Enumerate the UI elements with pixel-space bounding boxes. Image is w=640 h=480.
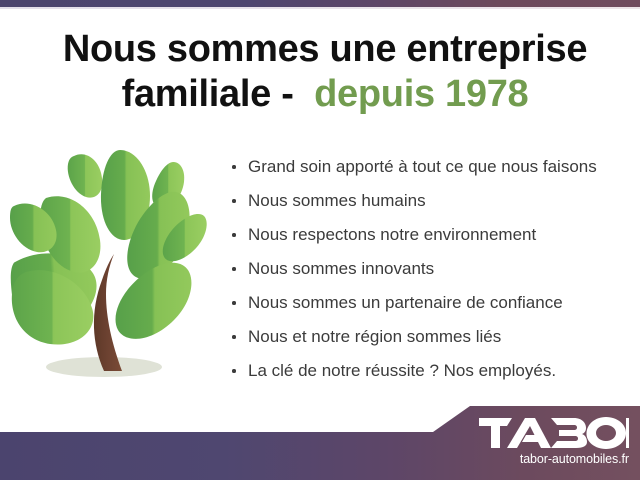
list-item-label: La clé de notre réussite ? Nos employés.	[248, 361, 556, 380]
slide-canvas: Nous sommes une entreprise familiale - d…	[0, 0, 640, 480]
brand-logo[interactable]: tabor-automobiles.fr	[479, 415, 629, 473]
brand-website: tabor-automobiles.fr	[479, 451, 629, 467]
list-item-label: Nous et notre région sommes liés	[248, 327, 501, 346]
value-list: Grand soin apporté à tout ce que nous fa…	[231, 150, 631, 388]
bullet-dot-icon	[232, 199, 236, 203]
list-item: Nous et notre région sommes liés	[231, 320, 631, 354]
list-item: Grand soin apporté à tout ce que nous fa…	[231, 150, 631, 184]
bullet-dot-icon	[232, 267, 236, 271]
tree-illustration	[8, 148, 208, 393]
bullet-dot-icon	[232, 335, 236, 339]
tabor-wordmark-icon	[479, 415, 629, 451]
top-accent-bar	[0, 0, 640, 7]
top-hairline	[0, 7, 640, 9]
list-item-label: Nous sommes humains	[248, 191, 426, 210]
tree-icon	[8, 148, 208, 393]
bullet-dot-icon	[232, 165, 236, 169]
tree-leaves	[9, 150, 207, 345]
list-item: Nous sommes innovants	[231, 252, 631, 286]
headline-line-1: Nous sommes une entreprise	[63, 28, 587, 70]
headline-accent: depuis 1978	[314, 73, 528, 115]
list-item: Nous respectons notre environnement	[231, 218, 631, 252]
list-item-label: Nous respectons notre environnement	[248, 225, 536, 244]
list-item: La clé de notre réussite ? Nos employés.	[231, 354, 631, 388]
headline-line-2: familiale - depuis 1978	[40, 72, 610, 117]
list-item-label: Nous sommes innovants	[248, 259, 434, 278]
bullet-dot-icon	[232, 301, 236, 305]
list-item: Nous sommes humains	[231, 184, 631, 218]
headline-line-2-main: familiale -	[122, 73, 315, 115]
footer-band: tabor-automobiles.fr	[0, 400, 640, 480]
bullet-dot-icon	[232, 233, 236, 237]
list-item-label: Nous sommes un partenaire de confiance	[248, 293, 563, 312]
page-title: Nous sommes une entreprise familiale - d…	[40, 27, 610, 117]
bullet-dot-icon	[232, 369, 236, 373]
list-item-label: Grand soin apporté à tout ce que nous fa…	[248, 157, 597, 176]
list-item: Nous sommes un partenaire de confiance	[231, 286, 631, 320]
